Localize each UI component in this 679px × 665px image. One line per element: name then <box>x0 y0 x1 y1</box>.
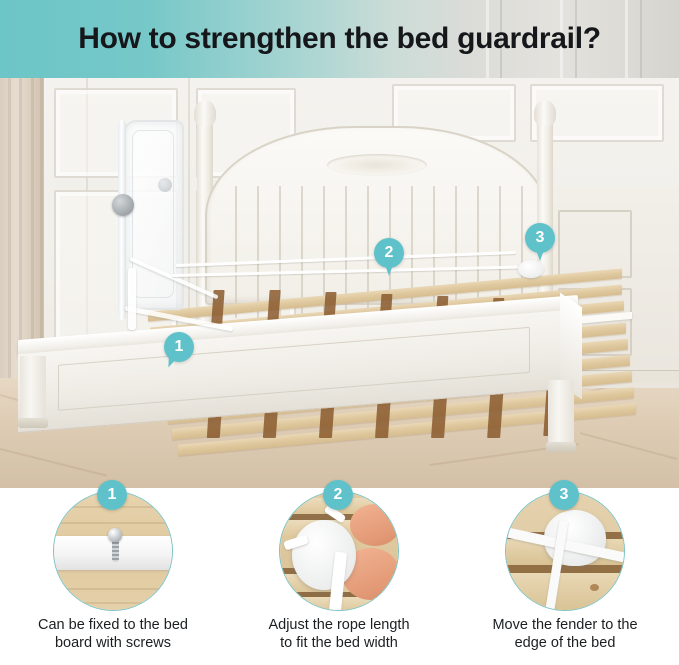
headboard-finial <box>194 100 216 126</box>
headboard-finial <box>534 100 556 126</box>
photo-marker-2-number: 2 <box>385 245 394 261</box>
step-1-badge: 1 <box>97 480 127 510</box>
step-3-caption: Move the fender to the edge of the bed <box>452 616 678 652</box>
bed-leg <box>548 380 574 444</box>
step-1-caption-line2: board with screws <box>0 634 226 652</box>
step-2-caption: Adjust the rope length to fit the bed wi… <box>226 616 452 652</box>
page-title: How to strengthen the bed guardrail? <box>0 0 679 78</box>
wood-knot <box>590 584 599 591</box>
instruction-graphic: How to strengthen the bed guardrail? <box>0 0 679 665</box>
step-3-badge: 3 <box>549 480 579 510</box>
guardrail-support-arm <box>128 268 136 330</box>
photo-marker-3: 3 <box>525 223 555 253</box>
step-3-number: 3 <box>560 487 569 503</box>
step-2-caption-line2: to fit the bed width <box>226 634 452 652</box>
step-panel-1: 1 Can be fixed to the bed board with scr… <box>0 488 226 665</box>
photo-marker-1-number: 1 <box>175 339 184 355</box>
guardrail-adjust-knob <box>112 194 134 216</box>
headboard-carved-rosette <box>327 154 427 176</box>
photo-marker-1: 1 <box>164 332 194 362</box>
guardrail-post <box>118 120 126 320</box>
photo-marker-2: 2 <box>374 238 404 268</box>
screw-shaft <box>112 540 119 562</box>
rope-fender <box>518 260 544 278</box>
hand <box>350 504 399 546</box>
floor-seam <box>0 448 107 477</box>
step-2-number: 2 <box>334 487 343 503</box>
bed-foot <box>18 418 48 428</box>
step-panels: 1 Can be fixed to the bed board with scr… <box>0 488 679 665</box>
step-1-caption-line1: Can be fixed to the bed <box>0 616 226 634</box>
step-3-caption-line1: Move the fender to the <box>452 616 678 634</box>
photo-marker-3-number: 3 <box>536 230 545 246</box>
main-photo: 1 2 3 <box>0 78 679 488</box>
curtain-fold <box>8 78 11 418</box>
header-banner: How to strengthen the bed guardrail? <box>0 0 679 78</box>
step-1-number: 1 <box>108 487 117 503</box>
step-panel-2: 2 Adjust the rope length to fit the bed … <box>226 488 452 665</box>
step-2-badge: 2 <box>323 480 353 510</box>
step-panel-3: 3 Move the fender to the edge of the bed <box>452 488 678 665</box>
step-3-caption-line2: edge of the bed <box>452 634 678 652</box>
bed-leg <box>20 356 46 420</box>
guardrail-pivot-knob <box>158 178 172 192</box>
bed-foot <box>546 442 576 452</box>
screw-head <box>108 528 122 542</box>
step-1-caption: Can be fixed to the bed board with screw… <box>0 616 226 652</box>
step-2-caption-line1: Adjust the rope length <box>226 616 452 634</box>
floor-seam <box>580 432 677 460</box>
